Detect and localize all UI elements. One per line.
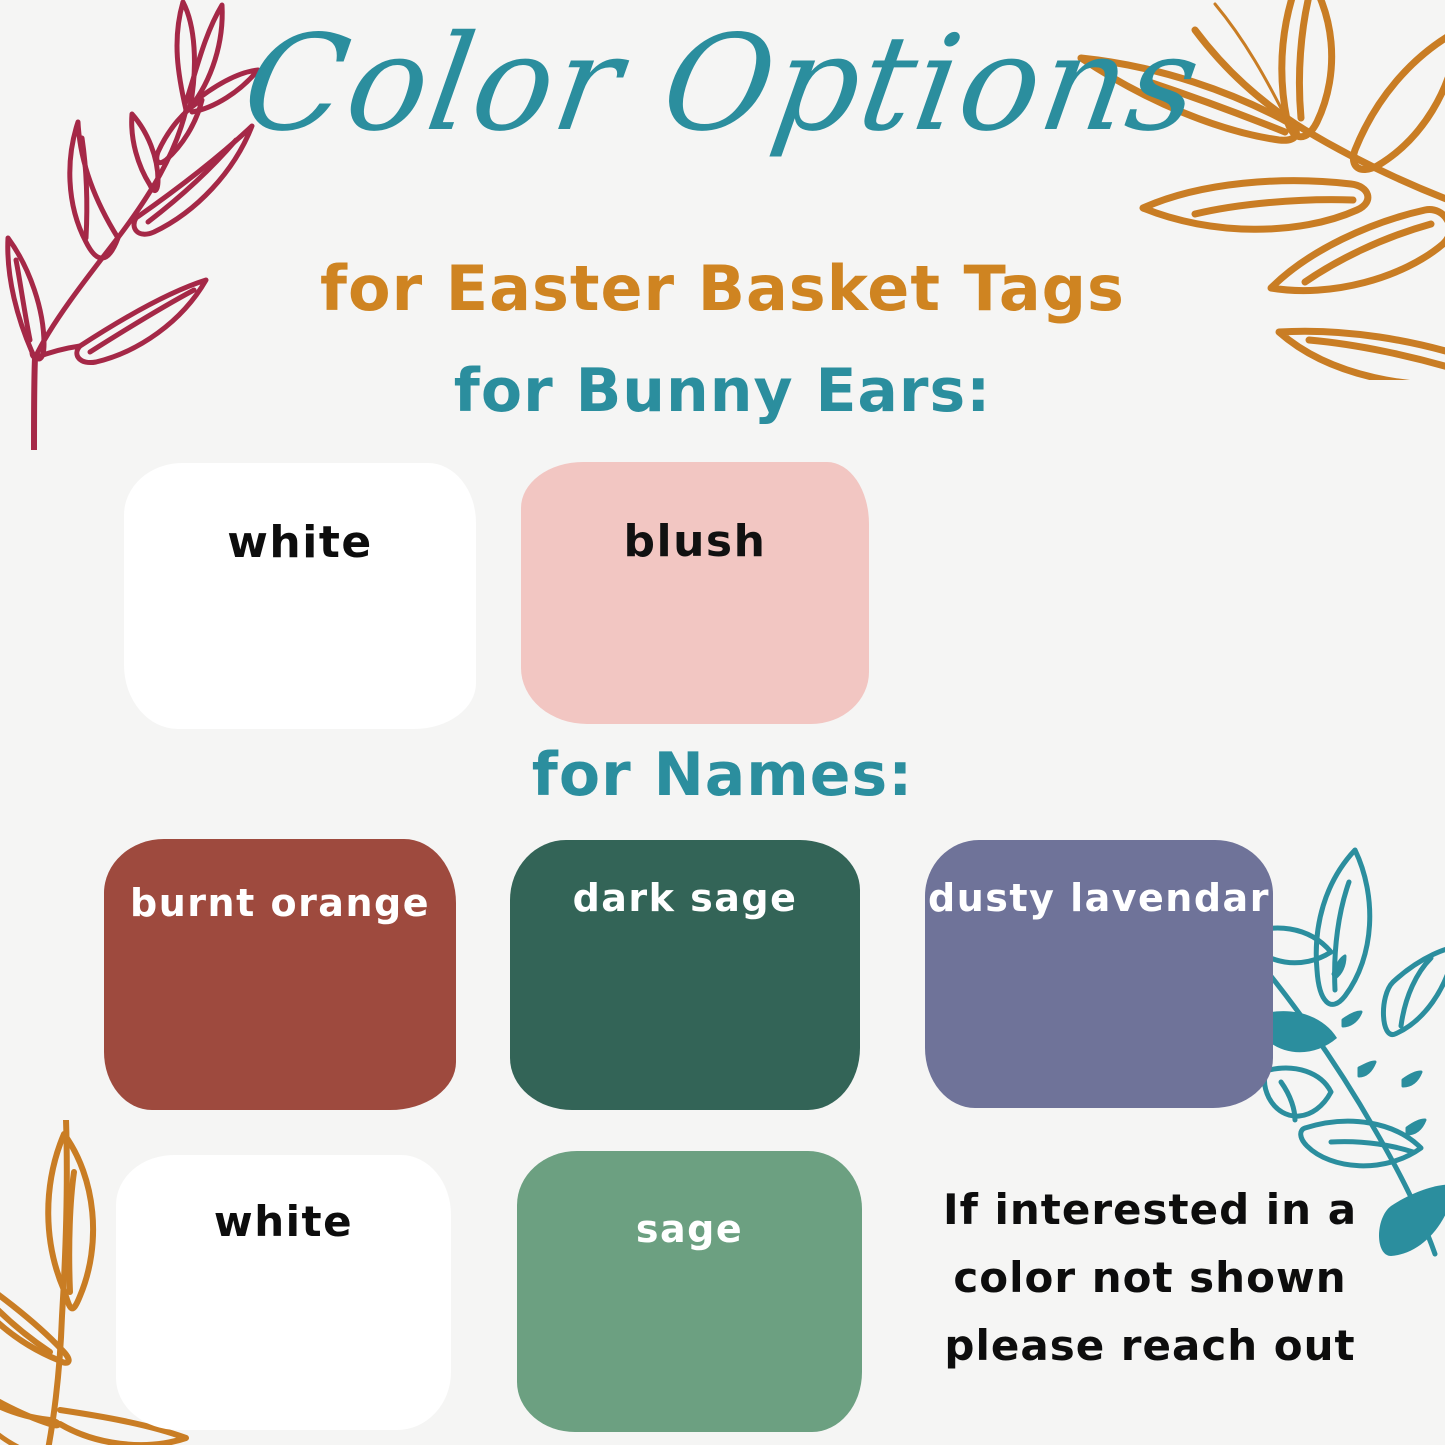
color-swatch-label: dark sage — [573, 876, 798, 920]
color-swatch-label: burnt orange — [130, 881, 430, 925]
color-swatch-white-ears[interactable]: white — [124, 463, 476, 729]
color-swatch-label: blush — [624, 516, 767, 567]
note-line-1: If interested in a — [900, 1176, 1400, 1244]
color-swatch-label: white — [214, 1197, 353, 1246]
color-swatch-dusty-lavendar[interactable]: dusty lavendar — [925, 840, 1273, 1108]
color-swatch-sage[interactable]: sage — [517, 1151, 862, 1432]
color-swatch-dark-sage[interactable]: dark sage — [510, 840, 860, 1110]
color-swatch-blush[interactable]: blush — [521, 462, 869, 724]
color-swatch-label: sage — [636, 1207, 743, 1251]
color-swatch-burnt-orange[interactable]: burnt orange — [104, 839, 456, 1110]
color-swatch-label: dusty lavendar — [928, 876, 1270, 920]
note-line-3: please reach out — [900, 1312, 1400, 1380]
color-swatch-white-names[interactable]: white — [116, 1155, 451, 1430]
color-swatch-label: white — [227, 517, 372, 568]
section-heading-bunny-ears: for Bunny Ears: — [0, 356, 1445, 426]
page-title: Color Options — [0, 18, 1445, 150]
section-heading-names: for Names: — [0, 740, 1445, 810]
poster-canvas: Color Options for Easter Basket Tags for… — [0, 0, 1445, 1445]
custom-color-note: If interested in a color not shown pleas… — [900, 1176, 1400, 1380]
subtitle-product: for Easter Basket Tags — [0, 252, 1445, 325]
note-line-2: color not shown — [900, 1244, 1400, 1312]
